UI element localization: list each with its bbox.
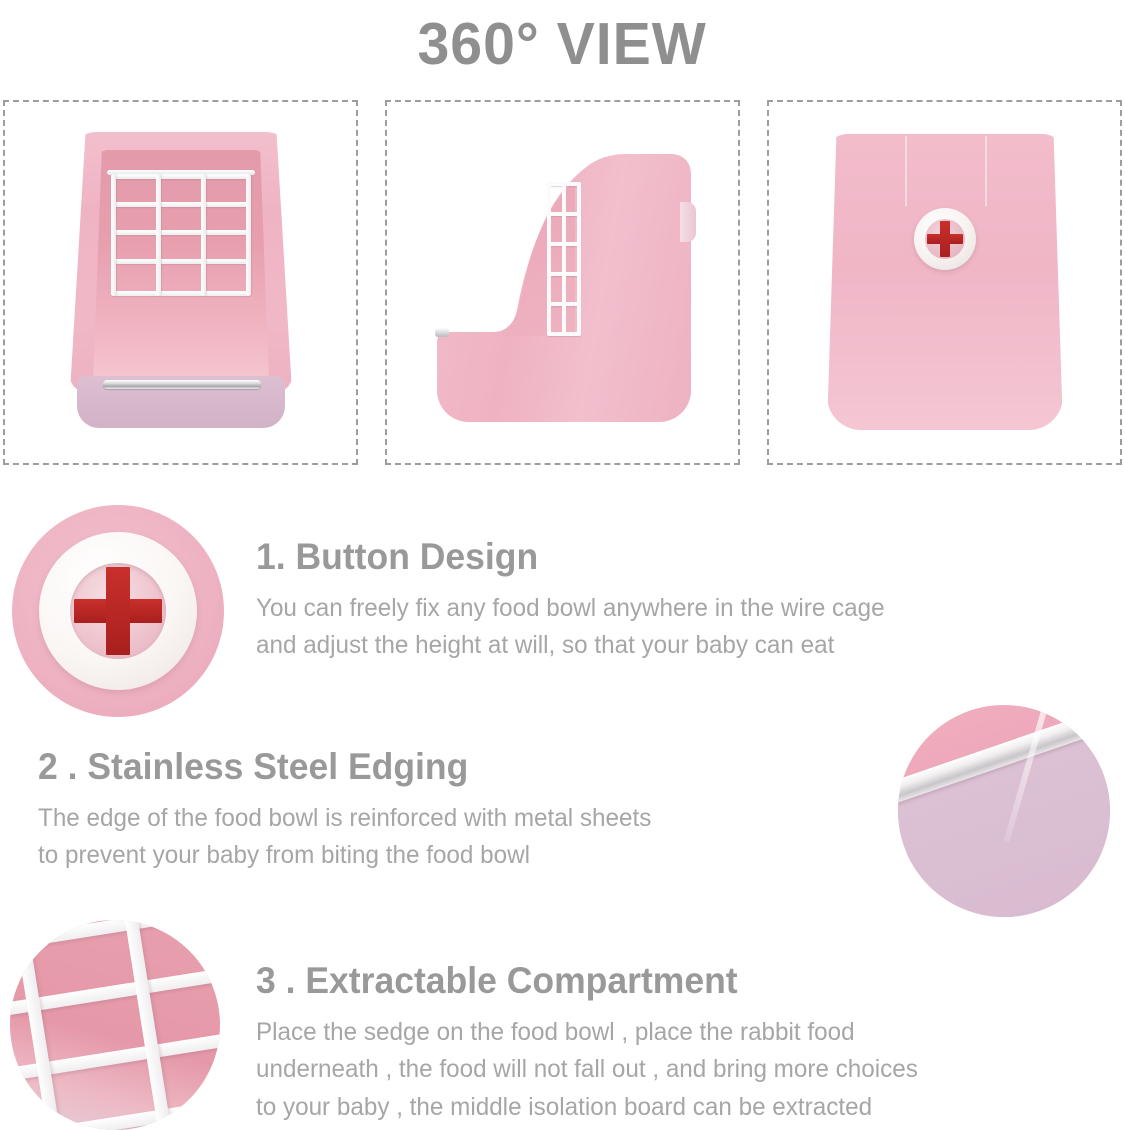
feature-1-body: You can freely fix any food bowl anywher… (256, 591, 1125, 664)
cross-icon (70, 563, 166, 659)
product-back-image (827, 134, 1063, 430)
product-front-image (67, 132, 295, 428)
feature-1-inset-image (12, 505, 224, 717)
gallery-panel-front-view[interactable] (3, 100, 358, 465)
mounting-button (914, 208, 976, 270)
feature-2-body: The edge of the food bowl is reinforced … (38, 801, 1125, 874)
page-title-bar: 360° VIEW (0, 0, 1125, 88)
side-button-knob (680, 202, 696, 242)
feature-3-body: Place the sedge on the food bowl , place… (256, 1015, 1125, 1126)
gallery-panel-back-view[interactable] (767, 100, 1122, 465)
product-gallery (3, 100, 1122, 465)
feature-3-heading: 3 . Extractable Compartment (256, 962, 1125, 1001)
product-side-image (435, 136, 697, 428)
button-ring (39, 532, 197, 690)
feature-2: 2 . Stainless Steel Edging The edge of t… (38, 748, 1125, 874)
cross-icon (925, 219, 965, 259)
stainless-steel-strip (103, 380, 261, 389)
gallery-panel-side-view[interactable] (385, 100, 740, 465)
page-title: 360° VIEW (418, 15, 707, 74)
feature-1-heading: 1. Button Design (256, 538, 1125, 577)
wire-grid (111, 174, 251, 296)
wire-grid-side (547, 182, 581, 336)
feature-3: 3 . Extractable Compartment Place the se… (256, 962, 1125, 1125)
feature-1: 1. Button Design You can freely fix any … (256, 538, 1125, 664)
feature-3-inset-image (10, 920, 220, 1130)
feature-2-heading: 2 . Stainless Steel Edging (38, 748, 1118, 787)
product-back-shell (827, 134, 1063, 430)
wire-grid-closeup (10, 920, 220, 1130)
stainless-steel-strip-side (435, 328, 449, 337)
